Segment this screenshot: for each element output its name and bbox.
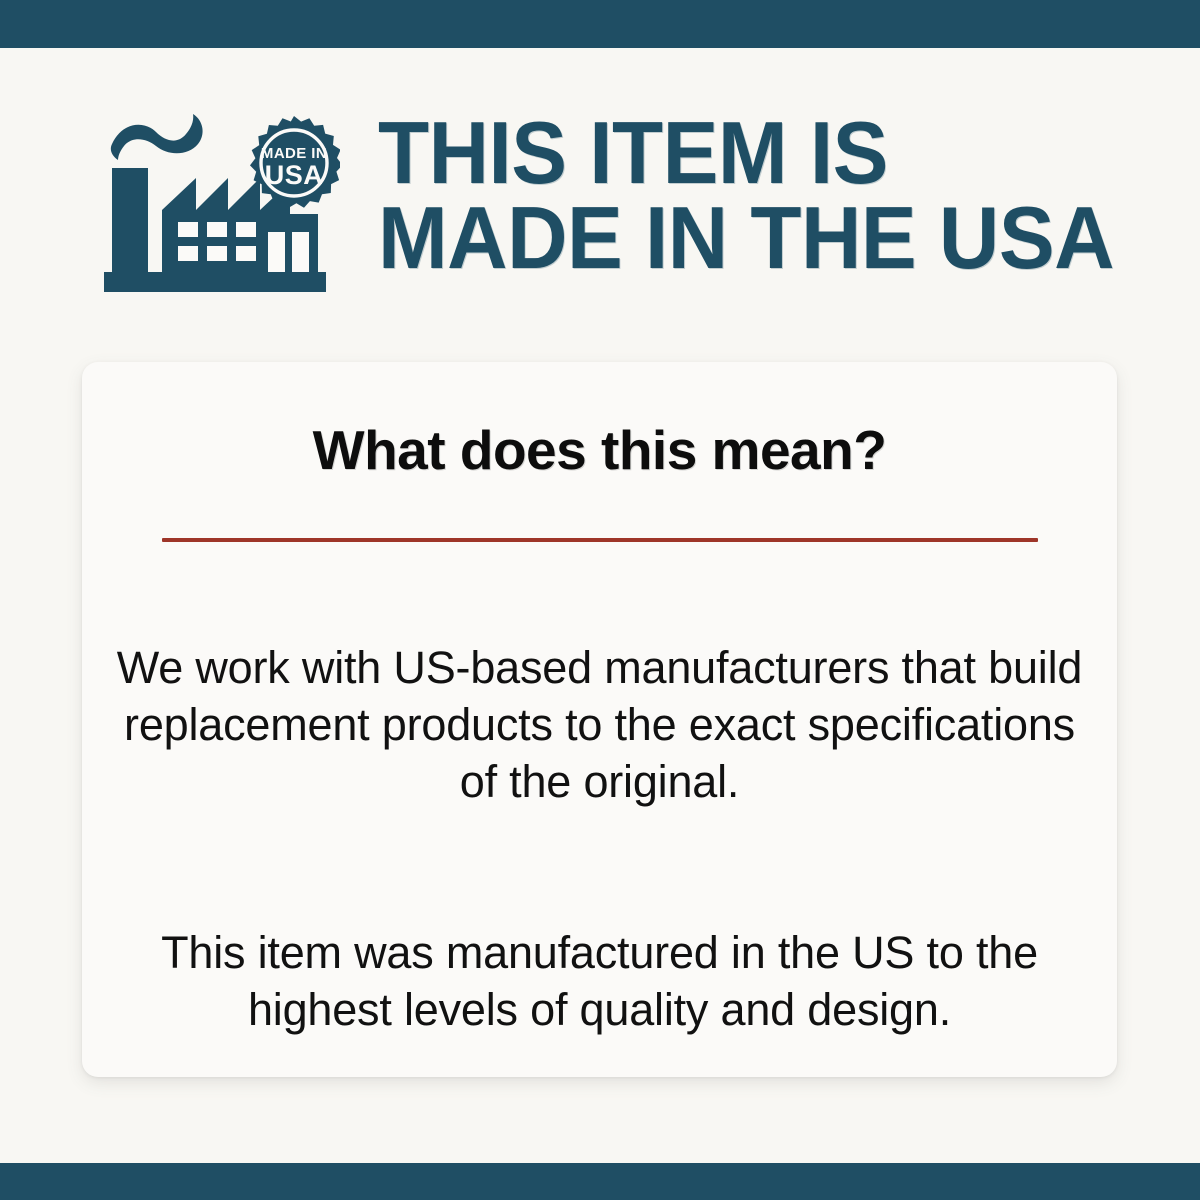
headline-line-2: MADE IN THE USA	[378, 195, 1138, 280]
card-paragraph-1: We work with US-based manufacturers that…	[112, 639, 1087, 810]
banner-header: MADE IN USA THIS ITEM IS MADE IN THE USA	[0, 48, 1200, 348]
info-card: What does this mean? We work with US-bas…	[82, 362, 1117, 1077]
page-root: MADE IN USA THIS ITEM IS MADE IN THE USA…	[0, 0, 1200, 1200]
headline-line-1: THIS ITEM IS	[378, 110, 1138, 195]
factory-made-in-usa-icon: MADE IN USA	[100, 106, 340, 296]
badge-line-2: USA	[265, 160, 324, 190]
top-accent-band	[0, 0, 1200, 48]
page-title: THIS ITEM IS MADE IN THE USA	[378, 110, 1138, 280]
red-divider-rule	[162, 538, 1038, 542]
bottom-accent-band	[0, 1163, 1200, 1200]
card-heading: What does this mean?	[82, 420, 1117, 480]
card-paragraph-2: This item was manufactured in the US to …	[112, 924, 1087, 1038]
